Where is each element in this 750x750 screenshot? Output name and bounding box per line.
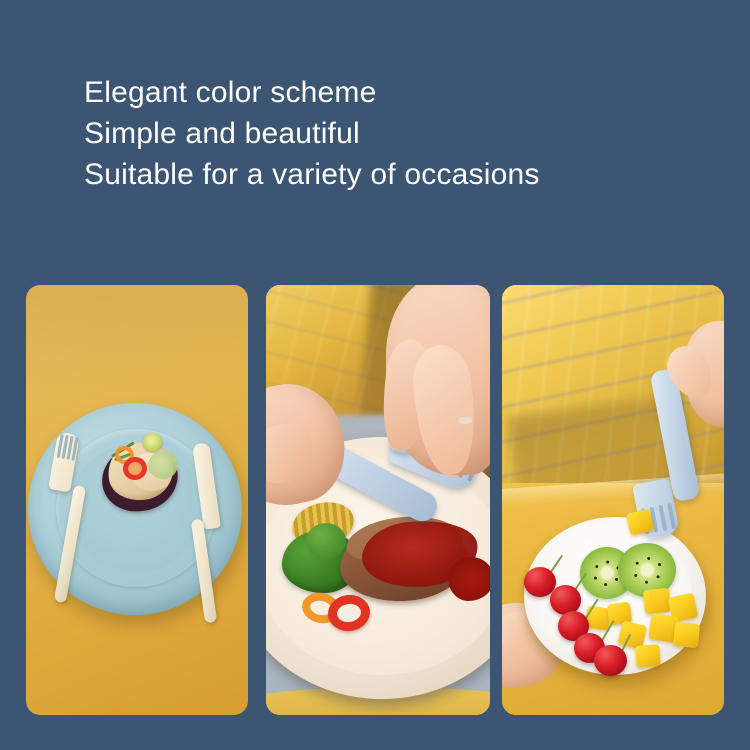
mango-cube: [673, 622, 700, 648]
sauce-drip: [448, 557, 490, 601]
mango-cube: [643, 588, 671, 615]
kiwi-seeds: [630, 553, 666, 587]
finger-ring: [458, 417, 472, 424]
mango-cube: [635, 644, 660, 668]
product-banner: Elegant color scheme Simple and beautifu…: [0, 0, 750, 750]
headline-line-3: Suitable for a variety of occasions: [84, 154, 684, 195]
headline-block: Elegant color scheme Simple and beautifu…: [84, 72, 684, 195]
broccoli-floret-secondary: [306, 523, 346, 559]
photo-panel-plate-setting: [26, 285, 248, 715]
photo-image-1: [26, 285, 248, 715]
headline-line-2: Simple and beautiful: [84, 113, 684, 154]
cherry: [594, 645, 627, 676]
headline-line-1: Elegant color scheme: [84, 72, 684, 113]
photo-image-3: [502, 285, 724, 715]
lettuce-garnish: [148, 451, 178, 479]
photo-image-2: [266, 285, 490, 715]
lime-slice: [143, 433, 162, 451]
photo-panel-cutting-steak: [266, 285, 490, 715]
photo-panel-fruit-plate: [502, 285, 724, 715]
